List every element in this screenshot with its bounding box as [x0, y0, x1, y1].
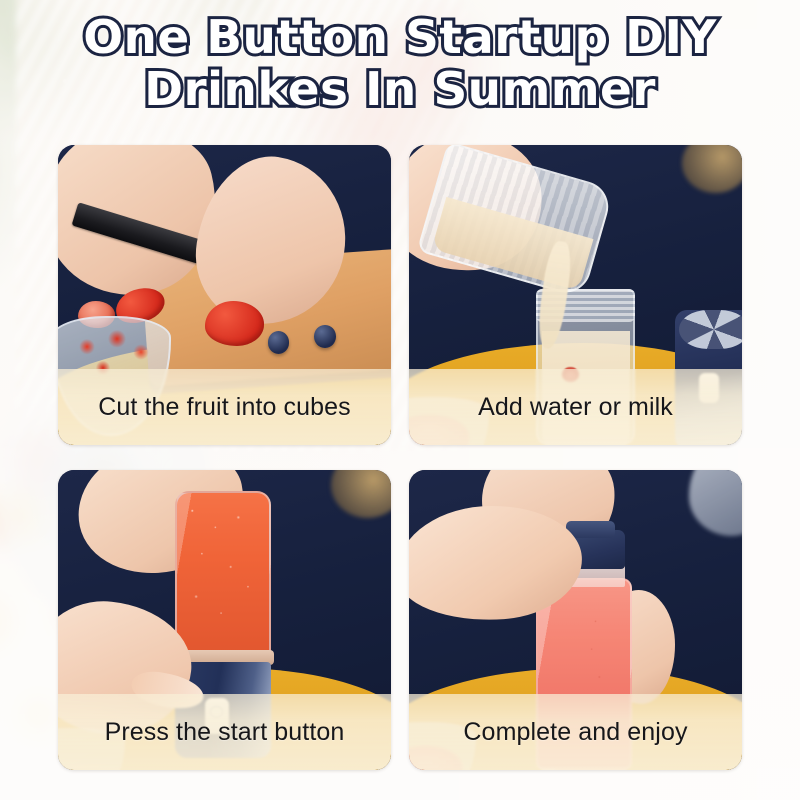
step-4-caption-text: Complete and enjoy: [463, 718, 687, 747]
strawberry-slice: [205, 301, 265, 346]
step-2-caption-text: Add water or milk: [478, 393, 673, 422]
blueberry-icon: [268, 331, 290, 354]
title-line-1: One Button Startup DIY: [0, 14, 800, 60]
blueberry-icon: [314, 325, 336, 348]
step-1-caption-text: Cut the fruit into cubes: [98, 393, 351, 422]
step-1-caption-bar: Cut the fruit into cubes: [58, 369, 391, 445]
page-title: One Button Startup DIY Drinkes In Summer: [0, 14, 800, 112]
step-panel-1[interactable]: Cut the fruit into cubes: [58, 145, 391, 445]
step-panel-2[interactable]: Add water or milk: [409, 145, 742, 445]
step-2-caption-bar: Add water or milk: [409, 369, 742, 445]
step-3-caption-bar: Press the start button: [58, 694, 391, 770]
smoothie-bubbles: [175, 491, 272, 656]
step-4-caption-bar: Complete and enjoy: [409, 694, 742, 770]
title-line-2: Drinkes In Summer: [0, 66, 800, 112]
step-panel-3[interactable]: Press the start button: [58, 470, 391, 770]
step-3-caption-text: Press the start button: [105, 718, 345, 747]
blender-blades-icon: [679, 310, 742, 349]
step-grid: Cut the fruit into cubes Add water or mi…: [58, 145, 742, 770]
step-panel-4[interactable]: Complete and enjoy: [409, 470, 742, 770]
